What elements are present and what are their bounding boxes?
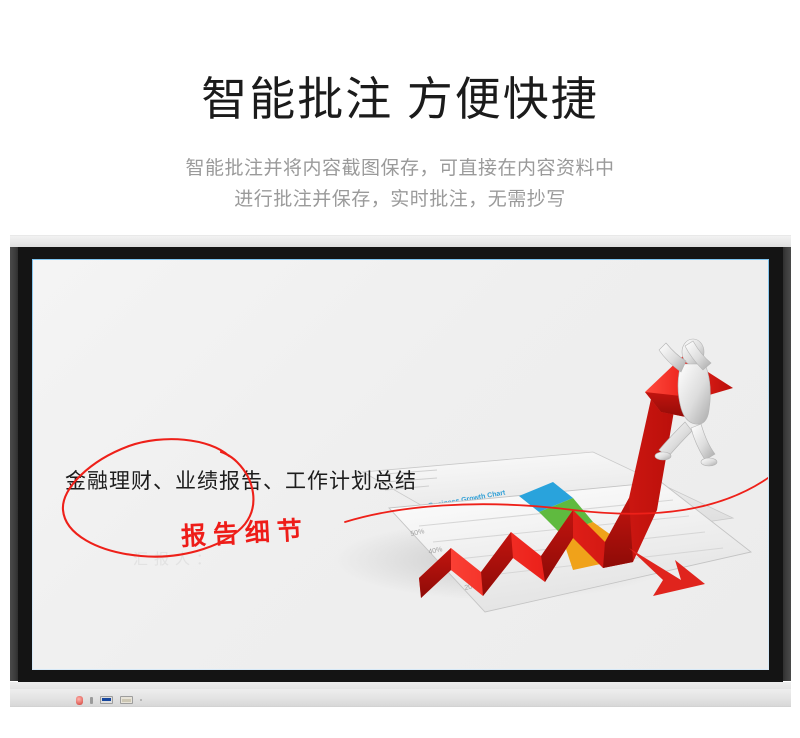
- slide-canvas[interactable]: Business Growth Chart 50% 40% 30% 20%: [33, 260, 768, 669]
- page-root: 智能批注 方便快捷 智能批注并将内容截图保存，可直接在内容资料中 进行批注并保存…: [0, 0, 800, 738]
- interactive-display-device: Business Growth Chart 50% 40% 30% 20%: [10, 235, 791, 705]
- ir-sensor-icon: [140, 699, 142, 701]
- power-led-icon: [76, 696, 83, 705]
- slide-heading: 金融理财、业绩报告、工作计划总结: [65, 465, 417, 495]
- device-chassis-bottom-upper: [10, 682, 791, 689]
- handwritten-annotation: 报告细节: [180, 510, 310, 553]
- device-rail-right: [782, 247, 791, 681]
- device-port-strip: [76, 694, 142, 706]
- usb-port-2-icon[interactable]: [120, 696, 133, 704]
- display-screen[interactable]: Business Growth Chart 50% 40% 30% 20%: [33, 260, 768, 669]
- usb-port-1-icon[interactable]: [100, 696, 113, 704]
- power-button[interactable]: [90, 697, 93, 704]
- page-subtitle-line-1: 智能批注并将内容截图保存，可直接在内容资料中: [0, 153, 800, 184]
- header: 智能批注 方便快捷 智能批注并将内容截图保存，可直接在内容资料中 进行批注并保存…: [0, 0, 800, 215]
- page-subtitle-line-2: 进行批注并保存，实时批注，无需抄写: [0, 184, 800, 215]
- page-title: 智能批注 方便快捷: [0, 72, 800, 127]
